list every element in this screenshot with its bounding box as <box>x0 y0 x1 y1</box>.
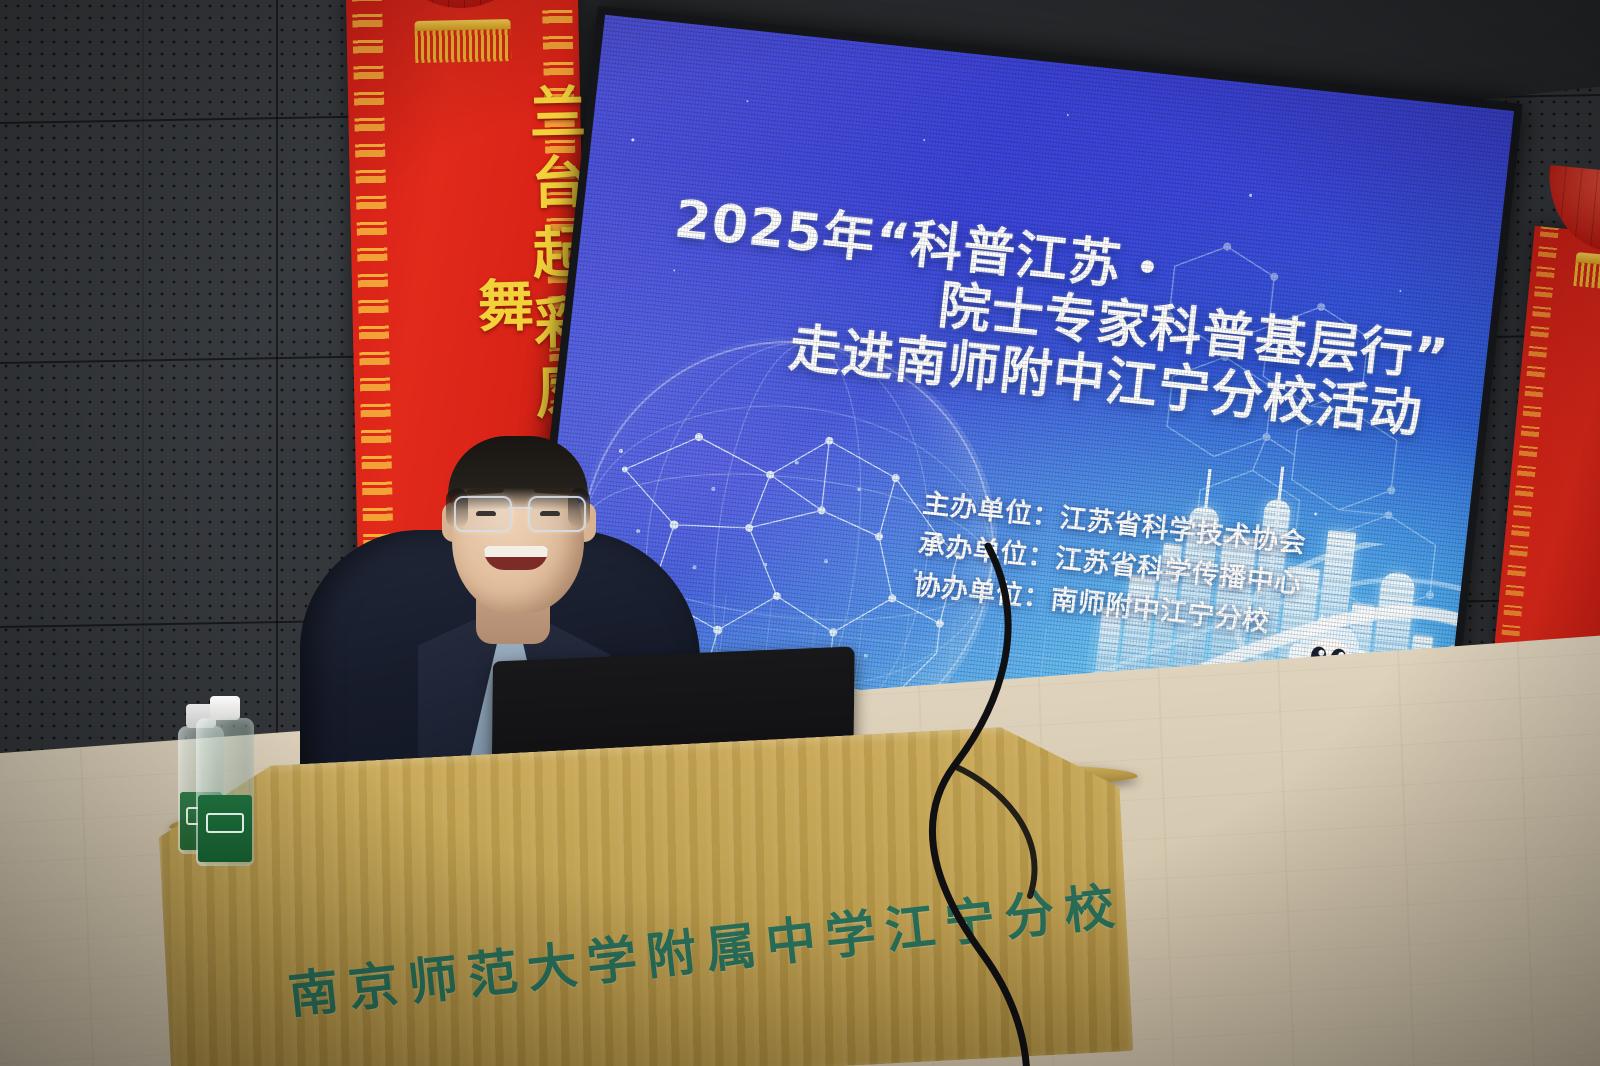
water-bottle-front <box>196 696 254 866</box>
bottle-cap <box>210 696 240 720</box>
bottle-label <box>198 795 252 862</box>
lantern-icon <box>366 0 556 10</box>
photo-scene: 兰台起彩凤 凤舞 <box>0 0 1600 1066</box>
bottle-body <box>196 718 254 866</box>
eyeglasses-icon <box>452 496 588 530</box>
speaker-mouth <box>484 546 548 570</box>
slide-title-block: 2025年“科普江苏・ 院士专家科普基层行” 走进南师附中江宁分校活动 <box>659 191 1464 447</box>
gold-crest-icon <box>414 19 511 63</box>
slide-organizers-block: 主办单位：江苏省科学技术协会 承办单位：江苏省科学传播中心 协办单位：南师附中江… <box>912 483 1308 646</box>
gold-crest-icon <box>1573 252 1600 292</box>
